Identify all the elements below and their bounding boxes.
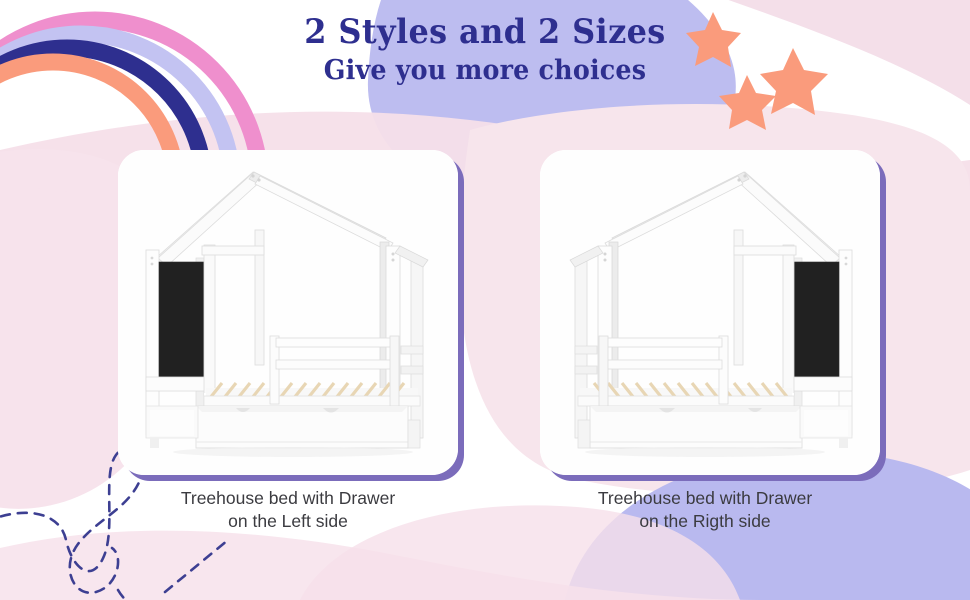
chalkboard-panel <box>794 262 839 377</box>
caption-left-line1: Treehouse bed with Drawer <box>108 487 468 510</box>
card-inner-right <box>540 150 880 475</box>
caption-right: Treehouse bed with Drawer on the Rigth s… <box>525 487 885 533</box>
page-title-line2: Give you more choices <box>29 56 941 87</box>
caption-left-line2: on the Left side <box>108 510 468 533</box>
product-card-right[interactable] <box>540 150 880 475</box>
poster-canvas: 2 Styles and 2 Sizes Give you more choic… <box>0 0 970 600</box>
caption-right-line1: Treehouse bed with Drawer <box>525 487 885 510</box>
bed-image-left <box>118 150 458 475</box>
card-inner-left <box>118 150 458 475</box>
header: 2 Styles and 2 Sizes Give you more choic… <box>0 14 970 87</box>
chalkboard-panel <box>159 262 204 377</box>
caption-right-line2: on the Rigth side <box>525 510 885 533</box>
page-title-line1: 2 Styles and 2 Sizes <box>29 14 941 50</box>
bed-image-right <box>540 150 880 475</box>
product-card-left[interactable] <box>118 150 458 475</box>
caption-left: Treehouse bed with Drawer on the Left si… <box>108 487 468 533</box>
